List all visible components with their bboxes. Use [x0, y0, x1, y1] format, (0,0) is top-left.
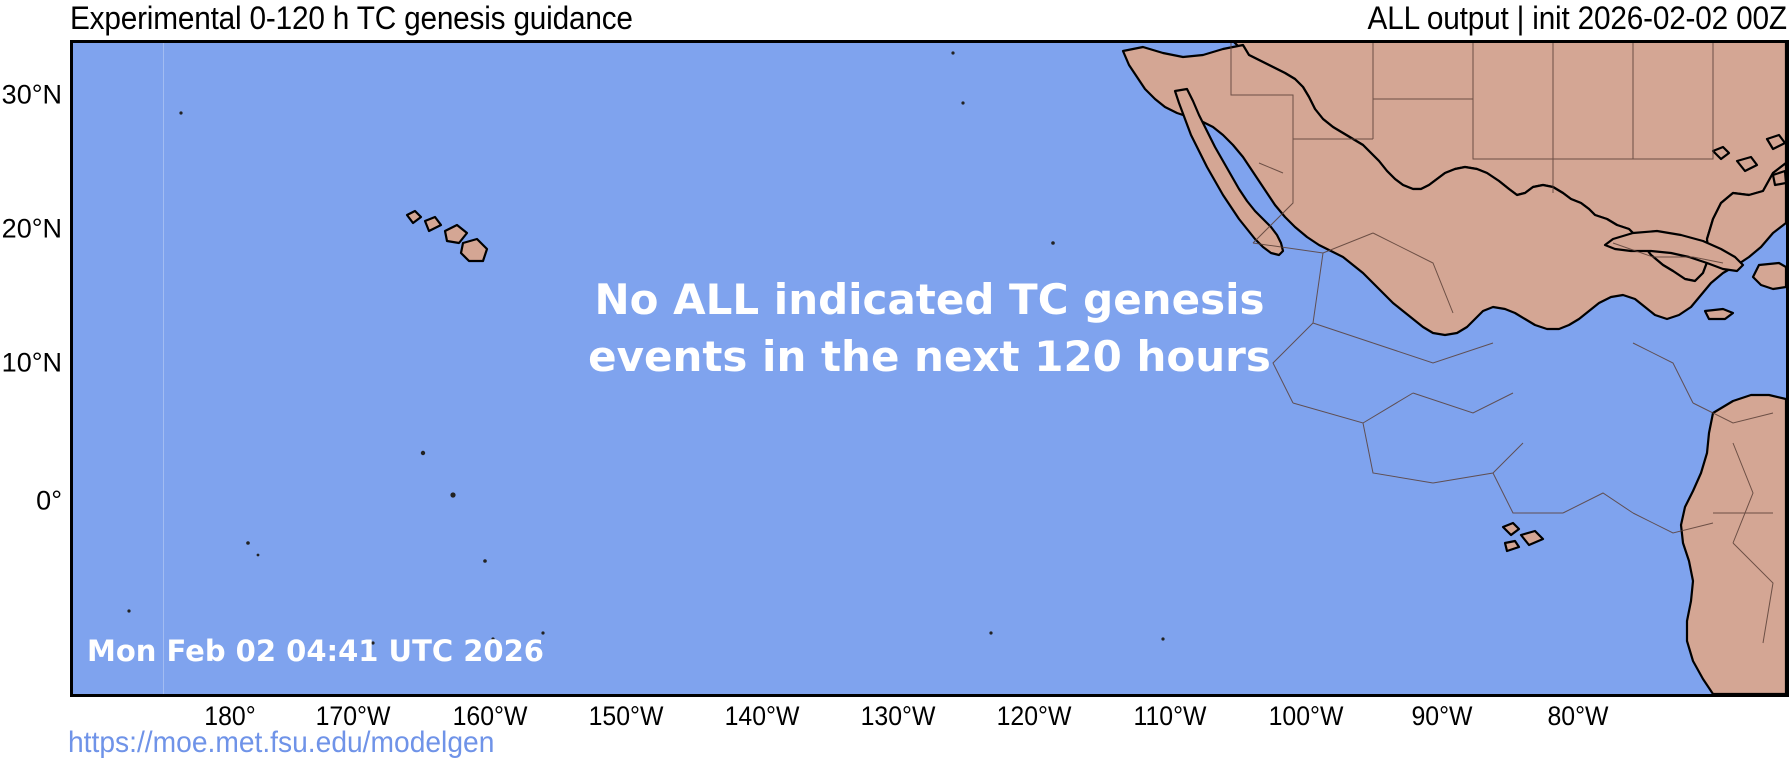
map-graphic	[73, 43, 1786, 694]
ytick-30N: 30°N	[2, 80, 62, 111]
header-bar: Experimental 0-120 h TC genesis guidance…	[0, 0, 1789, 40]
jamaica	[1705, 309, 1733, 319]
xtick-100W: 100°W	[1269, 701, 1344, 732]
xtick-130W: 130°W	[861, 701, 936, 732]
xtick-90W: 90°W	[1411, 701, 1472, 732]
gridline-180	[163, 43, 164, 694]
xtick-110W: 110°W	[1134, 701, 1207, 732]
source-url-link[interactable]: https://moe.met.fsu.edu/modelgen	[68, 726, 494, 760]
ytick-10N: 10°N	[2, 348, 62, 379]
xtick-150W: 150°W	[589, 701, 664, 732]
valid-time-stamp: Mon Feb 02 04:41 UTC 2026	[87, 634, 544, 668]
ytick-0: 0°	[36, 486, 62, 517]
xtick-80W: 80°W	[1547, 701, 1608, 732]
map-plot-area[interactable]: No ALL indicated TC genesis events in th…	[70, 40, 1789, 697]
xtick-120W: 120°W	[997, 701, 1072, 732]
xtick-140W: 140°W	[725, 701, 800, 732]
page-title: Experimental 0-120 h TC genesis guidance	[70, 0, 633, 38]
ytick-20N: 20°N	[2, 214, 62, 245]
header-subtitle: ALL output | init 2026-02-02 00Z	[1368, 0, 1787, 38]
